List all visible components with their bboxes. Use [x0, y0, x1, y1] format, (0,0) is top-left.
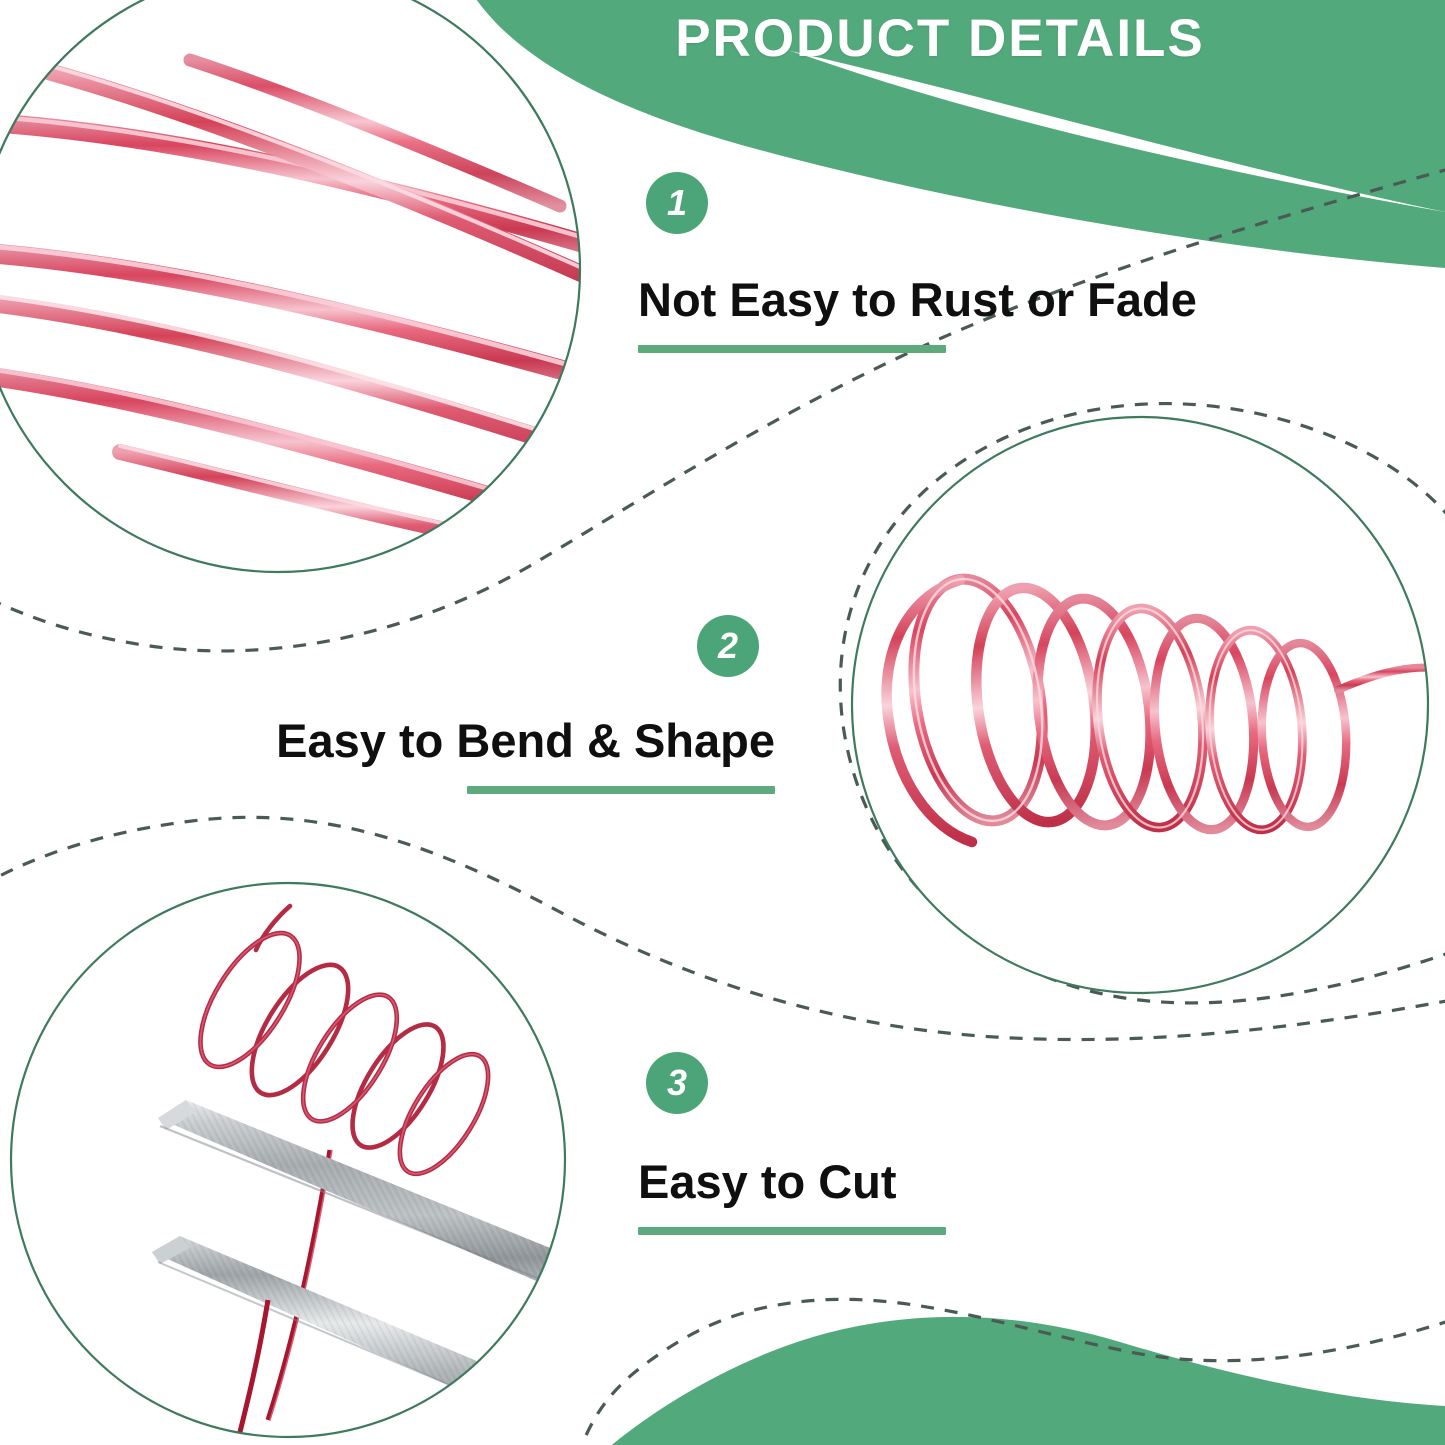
feature-title-3: Easy to Cut: [638, 1158, 946, 1205]
feature-underline-2: [467, 786, 775, 794]
feature-title-1: Not Easy to Rust or Fade: [638, 276, 1197, 323]
footer-green-wave: [600, 1317, 1445, 1445]
photo-scissors-cutting-wire: [0, 870, 580, 1445]
photo-wire-strands: [0, 0, 640, 620]
feature-number-badge-3: 3: [646, 1052, 708, 1114]
feature-item-3: 3 Easy to Cut: [638, 1052, 946, 1235]
feature-number-badge-1: 1: [646, 172, 708, 234]
feature-underline-1: [638, 345, 946, 353]
photo-coiled-spiral: [840, 400, 1445, 1020]
product-details-infographic: PRODUCT DETAILS 1 Not Easy to Rust or Fa…: [0, 0, 1445, 1445]
feature-item-2: 2 Easy to Bend & Shape: [250, 615, 775, 794]
feature-item-1: 1 Not Easy to Rust or Fade: [638, 172, 1197, 353]
feature-title-2: Easy to Bend & Shape: [250, 717, 775, 764]
feature-number-badge-2: 2: [697, 615, 759, 677]
feature-badge-wrap-2: 2: [250, 615, 775, 677]
feature-underline-3: [638, 1227, 946, 1235]
page-title: PRODUCT DETAILS: [620, 8, 1260, 69]
